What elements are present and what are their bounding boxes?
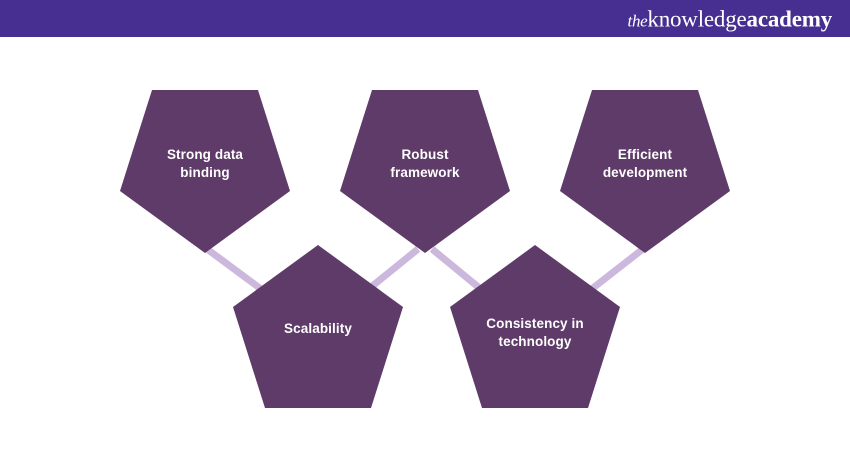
node-label-robust-framework-line1: Robust [401,147,448,162]
node-label-robust-framework-line2: framework [390,165,460,180]
logo-text-academy: academy [747,6,832,31]
node-strong-data-binding[interactable]: Strong data binding [120,90,290,253]
node-scalability[interactable]: Scalability [233,245,403,408]
node-label-consistency-line1: Consistency in [486,316,583,331]
node-label-strong-data-binding-line2: binding [180,165,229,180]
node-label-efficient-development-line1: Efficient [618,147,673,162]
node-label-consistency-line2: technology [498,334,571,349]
pentagon-diagram: Strong data binding Robust framework Eff… [0,37,850,450]
node-label-scalability-line1: Scalability [284,321,352,336]
node-robust-framework[interactable]: Robust framework [340,90,510,253]
brand-logo: theknowledgeacademy [628,7,832,30]
diagram-canvas: Strong data binding Robust framework Eff… [0,37,850,450]
node-label-strong-data-binding-line1: Strong data [167,147,243,162]
node-consistency-in-technology[interactable]: Consistency in technology [450,245,620,408]
logo-text-knowledge: knowledge [647,6,746,31]
logo-text-the: the [628,11,648,30]
header-bar: theknowledgeacademy [0,0,850,37]
node-label-efficient-development-line2: development [603,165,688,180]
node-efficient-development[interactable]: Efficient development [560,90,730,253]
